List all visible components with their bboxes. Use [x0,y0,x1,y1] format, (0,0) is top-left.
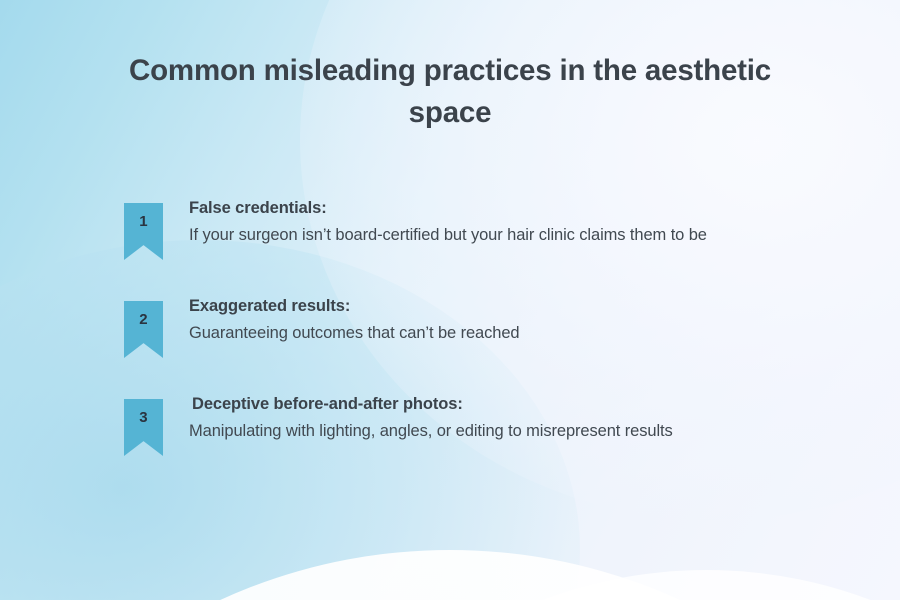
list-item-body: Deceptive before-and-after photos: Manip… [189,392,764,445]
ribbon-badge: 3 [124,399,163,456]
list-item: 2 Exaggerated results: Guaranteeing outc… [0,294,900,358]
ribbon-icon [124,203,163,260]
practices-list: 1 False credentials: If your surgeon isn… [0,196,900,456]
list-item-heading: Deceptive before-and-after photos: [189,394,764,415]
badge-number: 3 [124,409,163,426]
list-item-description: Guaranteeing outcomes that can’t be reac… [189,320,764,347]
list-item-description: If your surgeon isn’t board-certified bu… [189,222,764,249]
list-item-heading: Exaggerated results: [189,296,764,317]
badge-number: 1 [124,213,163,230]
ribbon-icon [124,399,163,456]
ribbon-badge: 2 [124,301,163,358]
badge-number: 2 [124,311,163,328]
slide-content: Common misleading practices in the aesth… [0,0,900,600]
list-item: 1 False credentials: If your surgeon isn… [0,196,900,260]
ribbon-badge: 1 [124,203,163,260]
slide-title: Common misleading practices in the aesth… [0,50,900,134]
list-item-body: False credentials: If your surgeon isn’t… [189,196,764,249]
ribbon-icon [124,301,163,358]
infographic-slide: Common misleading practices in the aesth… [0,0,900,600]
list-item-body: Exaggerated results: Guaranteeing outcom… [189,294,764,347]
list-item: 3 Deceptive before-and-after photos: Man… [0,392,900,456]
list-item-heading: False credentials: [189,198,764,219]
list-item-description: Manipulating with lighting, angles, or e… [189,418,764,445]
